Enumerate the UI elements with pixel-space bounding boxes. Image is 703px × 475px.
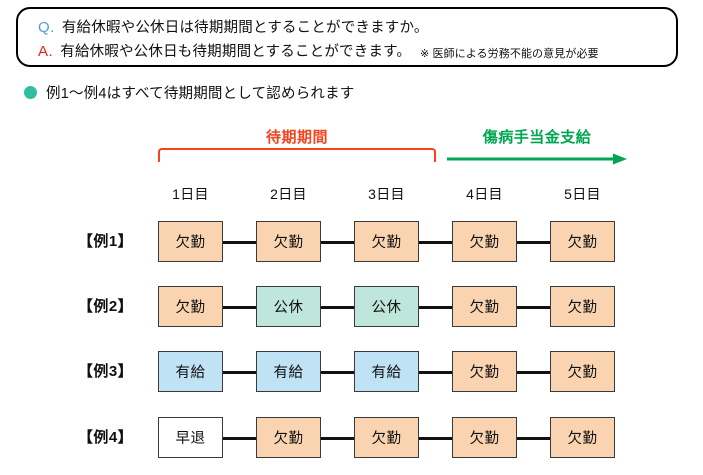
day-cell-absence: 欠勤 — [550, 221, 615, 262]
answer-text: 有給休暇や公休日も待期期間とすることができます。 — [60, 40, 411, 61]
day-header-5: 5日目 — [550, 184, 615, 204]
day-cell-absence: 欠勤 — [550, 351, 615, 392]
example-row-label: 【例3】 — [58, 360, 153, 381]
day-cell-absence: 欠勤 — [452, 221, 517, 262]
cell-connector-line — [223, 241, 256, 244]
day-cell-absence: 欠勤 — [158, 221, 223, 262]
day-cell-absence: 欠勤 — [256, 417, 321, 458]
qa-footnote: ※ 医師による労務不能の意見が必要 — [420, 45, 599, 61]
day-cell-absence: 欠勤 — [452, 286, 517, 327]
cell-connector-line — [419, 437, 452, 440]
day-cell-absence: 欠勤 — [550, 417, 615, 458]
example-cells: 欠勤公休公休欠勤欠勤 — [158, 286, 610, 328]
day-cell-paid: 有給 — [354, 351, 419, 392]
day-cell-paid: 有給 — [256, 351, 321, 392]
day-header-row: 1日目2日目3日目4日目5日目 — [158, 184, 610, 206]
question-text: 有給休暇や公休日は待期期間とすることができますか。 — [62, 16, 429, 37]
example-row: 【例4】早退欠勤欠勤欠勤欠勤 — [0, 417, 703, 459]
summary-bullet-text: 例1～例4はすべて待期期間として認められます — [46, 82, 355, 103]
day-cell-holiday: 公休 — [256, 286, 321, 327]
example-row: 【例1】欠勤欠勤欠勤欠勤欠勤 — [0, 221, 703, 263]
summary-bullet-row: 例1～例4はすべて待期期間として認められます — [24, 82, 355, 103]
cell-connector-line — [321, 371, 354, 374]
waiting-period-bracket — [158, 148, 436, 162]
day-header-2: 2日目 — [256, 184, 321, 204]
cell-connector-line — [321, 241, 354, 244]
day-cell-absence: 欠勤 — [256, 221, 321, 262]
day-header-1: 1日目 — [158, 184, 223, 204]
day-cell-absence: 欠勤 — [452, 351, 517, 392]
bullet-dot-icon — [24, 86, 37, 99]
example-row-label: 【例4】 — [58, 426, 153, 447]
example-row-label: 【例2】 — [58, 295, 153, 316]
day-cell-holiday: 公休 — [354, 286, 419, 327]
cell-connector-line — [517, 437, 550, 440]
example-cells: 早退欠勤欠勤欠勤欠勤 — [158, 417, 610, 459]
day-header-4: 4日目 — [452, 184, 517, 204]
waiting-period-label: 待期期間 — [158, 126, 436, 147]
day-cell-paid: 有給 — [158, 351, 223, 392]
qa-answer-line: A. 有給休暇や公休日も待期期間とすることができます。 — [38, 40, 411, 61]
cell-connector-line — [517, 241, 550, 244]
cell-connector-line — [223, 371, 256, 374]
day-cell-absence: 欠勤 — [354, 417, 419, 458]
cell-connector-line — [517, 306, 550, 309]
example-row: 【例2】欠勤公休公休欠勤欠勤 — [0, 286, 703, 328]
day-header-3: 3日目 — [354, 184, 419, 204]
cell-connector-line — [223, 437, 256, 440]
cell-connector-line — [419, 306, 452, 309]
day-cell-absence: 欠勤 — [158, 286, 223, 327]
day-cell-early: 早退 — [158, 417, 223, 458]
cell-connector-line — [321, 306, 354, 309]
day-cell-absence: 欠勤 — [550, 286, 615, 327]
cell-connector-line — [321, 437, 354, 440]
cell-connector-line — [223, 306, 256, 309]
example-cells: 有給有給有給欠勤欠勤 — [158, 351, 610, 393]
answer-marker: A. — [38, 43, 53, 60]
day-cell-absence: 欠勤 — [452, 417, 517, 458]
day-cell-absence: 欠勤 — [354, 221, 419, 262]
cell-connector-line — [419, 241, 452, 244]
qa-callout-box: Q. 有給休暇や公休日は待期期間とすることができますか。 A. 有給休暇や公休日… — [16, 7, 678, 67]
example-cells: 欠勤欠勤欠勤欠勤欠勤 — [158, 221, 610, 263]
cell-connector-line — [419, 371, 452, 374]
question-marker: Q. — [38, 19, 55, 36]
example-row: 【例3】有給有給有給欠勤欠勤 — [0, 351, 703, 393]
example-row-label: 【例1】 — [58, 230, 153, 251]
benefit-period-arrow-icon — [447, 152, 627, 164]
benefit-period-label: 傷病手当金支給 — [447, 126, 627, 147]
cell-connector-line — [517, 371, 550, 374]
qa-question-line: Q. 有給休暇や公休日は待期期間とすることができますか。 — [38, 16, 429, 37]
